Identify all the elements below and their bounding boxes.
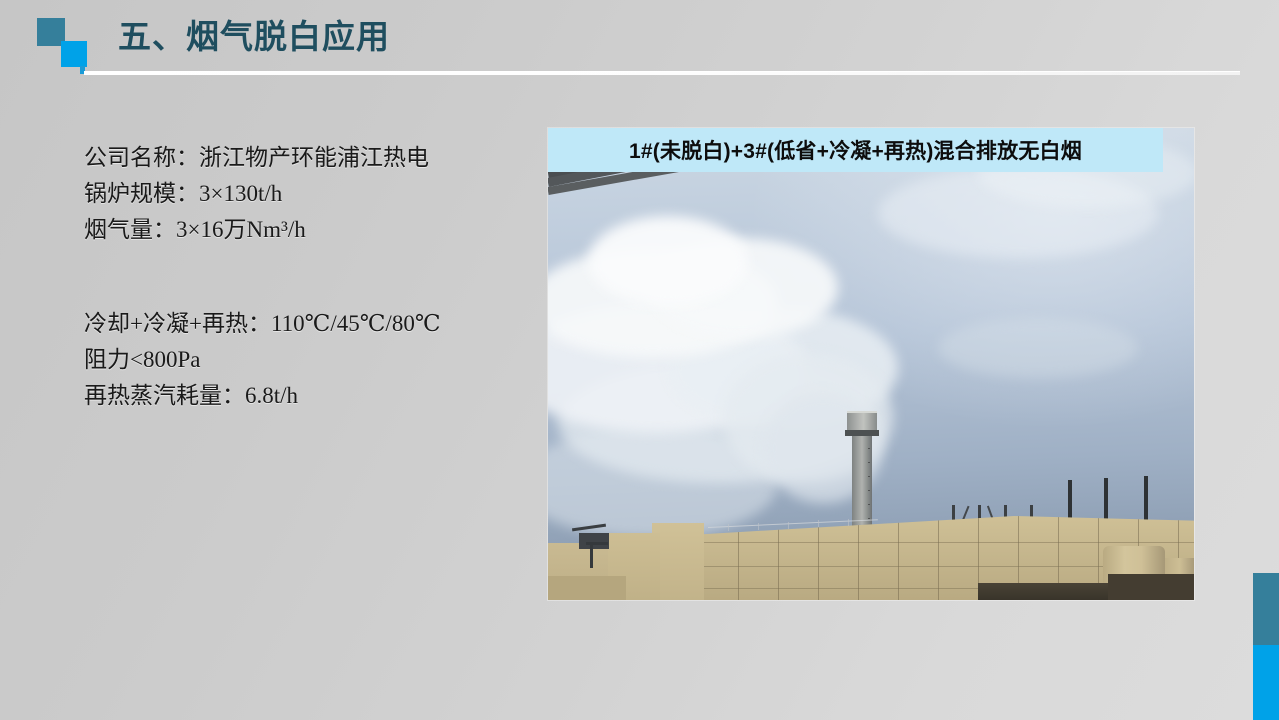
corner-accent-bar — [1253, 573, 1279, 720]
photo-chimney-rung — [868, 504, 870, 505]
photo-railing-post — [788, 522, 789, 529]
photo-roof-mast — [590, 544, 593, 568]
title-divider — [84, 71, 1240, 75]
corner-accent-teal — [1253, 573, 1279, 645]
corner-accent-blue — [1253, 645, 1279, 720]
photo-caption-text: 1#(未脱白)+3#(低省+冷凝+再热)混合排放无白烟 — [629, 135, 1082, 165]
photo-chimney-rung — [868, 476, 870, 477]
photo-roof-equipment — [579, 533, 609, 549]
photo-chimney-band — [845, 430, 879, 436]
spec-line-company-name: 公司名称：浙江物产环能浦江热电 — [84, 140, 514, 176]
photo-steel-post — [1068, 480, 1072, 524]
spec-line-resistance: 阻力<800Pa — [84, 342, 514, 378]
photo-chimney-rung — [868, 490, 870, 491]
photo-railing-post — [848, 519, 849, 526]
photo-steel-post — [1104, 478, 1108, 522]
decorative-square-blue-icon — [61, 41, 87, 67]
photo-caption-banner: 1#(未脱白)+3#(低省+冷凝+再热)混合排放无白烟 — [548, 128, 1163, 172]
photo-wall-panel-line — [698, 542, 1194, 543]
spec-line-boiler-scale: 锅炉规模：3×130t/h — [84, 176, 514, 212]
photo-chimney-rung — [868, 462, 870, 463]
page-title: 五、烟气脱白应用 — [118, 15, 390, 59]
photo-side-building — [548, 576, 626, 600]
plant-photo: 1#(未脱白)+3#(低省+冷凝+再热)混合排放无白烟 — [548, 128, 1194, 600]
spec-line-reheat-steam-consumption: 再热蒸汽耗量：6.8t/h — [84, 378, 514, 414]
spec-group-process: 冷却+冷凝+再热：110℃/45℃/80℃ 阻力<800Pa 再热蒸汽耗量：6.… — [84, 306, 514, 414]
photo-railing-post — [818, 520, 819, 527]
spec-line-flue-gas-volume: 烟气量：3×16万Nm³/h — [84, 212, 514, 248]
photo-foreground-shadow — [1108, 574, 1194, 600]
slide-canvas: 五、烟气脱白应用 公司名称：浙江物产环能浦江热电 锅炉规模：3×130t/h 烟… — [0, 0, 1279, 720]
slide-header: 五、烟气脱白应用 — [0, 0, 1279, 80]
photo-roof-mast-arm — [586, 542, 608, 545]
photo-chimney-rung — [868, 448, 870, 449]
photo-cloud — [588, 216, 748, 306]
spec-line-cooling-condensing-reheat: 冷却+冷凝+再热：110℃/45℃/80℃ — [84, 306, 514, 342]
spec-group-company: 公司名称：浙江物产环能浦江热电 锅炉规模：3×130t/h 烟气量：3×16万N… — [84, 140, 514, 248]
left-text-column: 公司名称：浙江物产环能浦江热电 锅炉规模：3×130t/h 烟气量：3×16万N… — [84, 140, 514, 414]
photo-railing-post — [728, 524, 729, 531]
photo-steel-post — [1144, 476, 1148, 520]
photo-cloud — [938, 318, 1138, 378]
photo-railing-post — [758, 523, 759, 530]
